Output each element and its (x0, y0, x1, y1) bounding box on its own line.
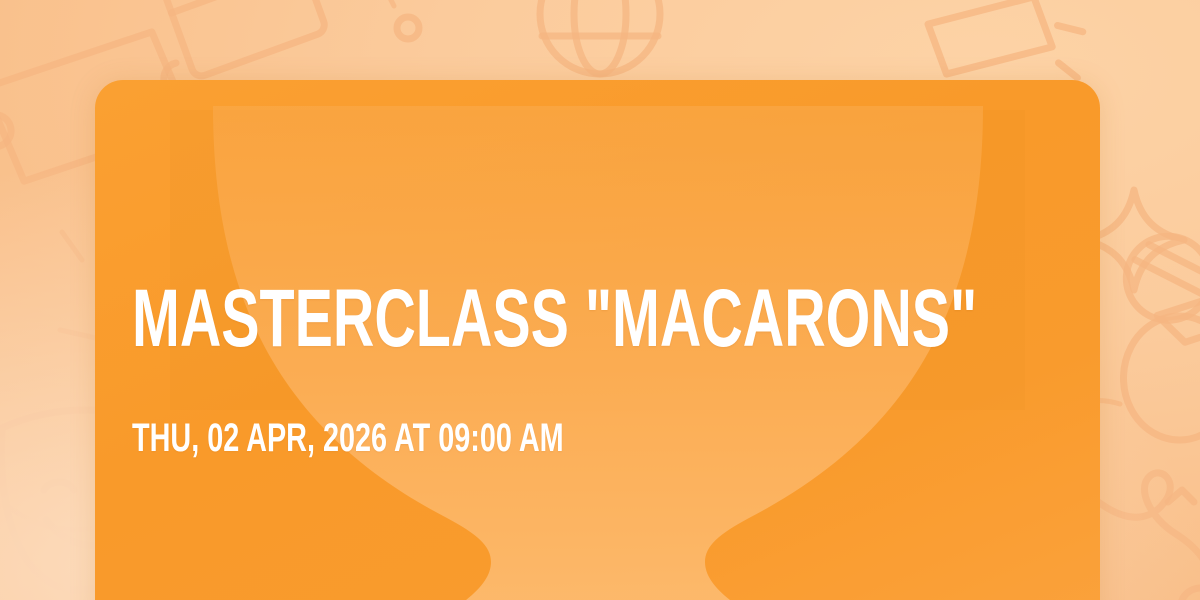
microphone-icon (1115, 222, 1200, 371)
event-datetime: THU, 02 APR, 2026 AT 09:00 AM (132, 416, 564, 460)
accent-line-icon (10, 508, 104, 530)
dot-icon (397, 17, 419, 39)
calendar-icon (154, 0, 327, 79)
balloon-icon (1124, 316, 1200, 502)
card-text-block: MASTERCLASS "MACARONS" THU, 02 APR, 2026… (132, 80, 1062, 600)
globe-icon (540, 0, 660, 74)
tick-mark-icon (388, 0, 394, 6)
accent-line-icon (62, 232, 82, 260)
event-title: MASTERCLASS "MACARONS" (132, 276, 977, 362)
event-card[interactable]: MASTERCLASS "MACARONS" THU, 02 APR, 2026… (95, 80, 1100, 600)
event-banner: MASTERCLASS "MACARONS" THU, 02 APR, 2026… (0, 0, 1200, 600)
